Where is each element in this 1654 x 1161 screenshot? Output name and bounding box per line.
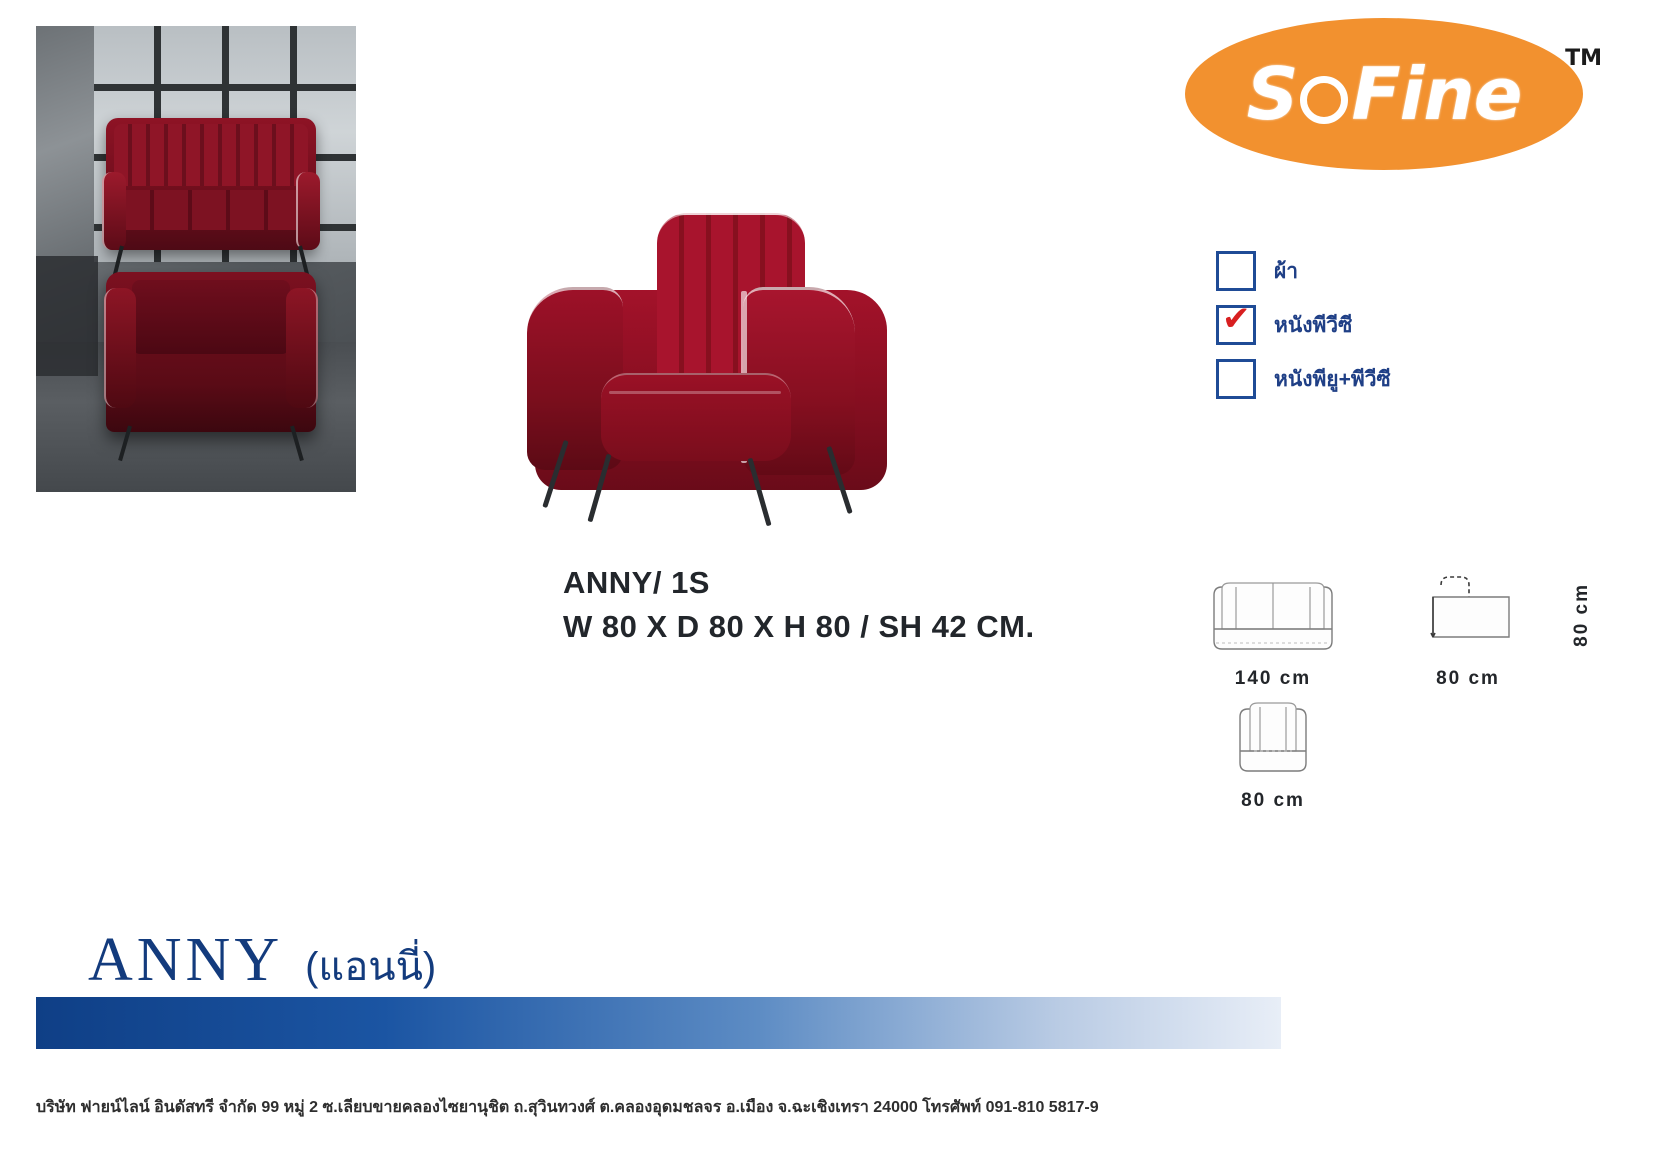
window-mullion [94,84,356,91]
photo-armchair [106,272,316,432]
product-specification: ANNY/ 1S W 80 X D 80 X H 80 / SH 42 CM. [563,565,1035,645]
trademark-symbol: TM [1565,46,1602,71]
logo-wordmark: S Fine [1247,52,1522,136]
page-title: ANNY (แอนนี่) [88,925,436,998]
sofa-arm-right [296,172,320,250]
material-label: หนังพีวีซี [1274,309,1352,342]
checkbox-empty-icon[interactable] [1216,359,1256,399]
product-name-th: (แอนนี่) [305,934,436,998]
material-option-fabric[interactable]: ผ้า [1216,248,1556,294]
product-render [505,195,925,540]
foreground-object [36,256,98,376]
dimensions-text: W 80 X D 80 X H 80 / SH 42 CM. [563,609,1035,645]
side-depth-label: 80 cm [1413,668,1523,690]
render-seat [601,373,791,461]
logo-text-fine: Fine [1351,52,1521,136]
catalog-page: S Fine TM ผ้า ✔ หนังพีวีซี หนังพียู+พีวี… [0,0,1654,1161]
checkmark-icon: ✔ [1222,302,1251,336]
logo-text-s: S [1247,52,1298,136]
product-lifestyle-photo [36,26,356,492]
chair-side-view-icon [1413,573,1523,659]
sofa-width-label: 140 cm [1198,668,1348,690]
chair-diagram-group: 80 cm [1198,695,1348,812]
armchair-arm-left [104,288,136,408]
render-piping [655,211,807,215]
material-label: ผ้า [1274,255,1298,288]
dimension-diagrams: 140 cm 80 cm 80 cm 80 cm [1190,565,1520,815]
decorative-gradient-bar [36,997,1281,1049]
chair-front-view-icon [1198,695,1348,781]
material-options-list: ผ้า ✔ หนังพีวีซี หนังพียู+พีวีซี [1216,248,1556,410]
logo-ellipse-shape: S Fine [1185,18,1583,170]
side-view-diagram-group: 80 cm 80 cm [1395,573,1523,690]
checkbox-empty-icon[interactable] [1216,251,1256,291]
material-option-pvc-leather[interactable]: ✔ หนังพีวีซี [1216,302,1556,348]
side-height-label: 80 cm [1571,583,1593,647]
sofa-front-view-icon [1198,573,1348,659]
company-footer-text: บริษัท ฟายน์ไลน์ อินดัสทรี จำกัด 99 หมู่… [36,1095,1596,1120]
chair-width-label: 80 cm [1198,790,1348,812]
model-code: ANNY/ 1S [563,565,1035,601]
sofa-diagram-group: 140 cm [1198,573,1348,690]
armchair-backrest [132,280,290,354]
render-piping [609,391,781,394]
brand-logo: S Fine TM [1137,0,1654,185]
checkbox-checked-icon[interactable]: ✔ [1216,305,1256,345]
photo-sofa [106,118,316,250]
logo-ring-icon [1300,76,1348,124]
sofa-arm-left [102,172,126,250]
product-name-en: ANNY [88,925,283,996]
material-label: หนังพียู+พีวีซี [1274,363,1391,396]
material-option-pu-pvc-leather[interactable]: หนังพียู+พีวีซี [1216,356,1556,402]
armchair-arm-right [286,288,318,408]
sofa-seat [116,190,306,230]
sofa-backrest [114,124,308,186]
